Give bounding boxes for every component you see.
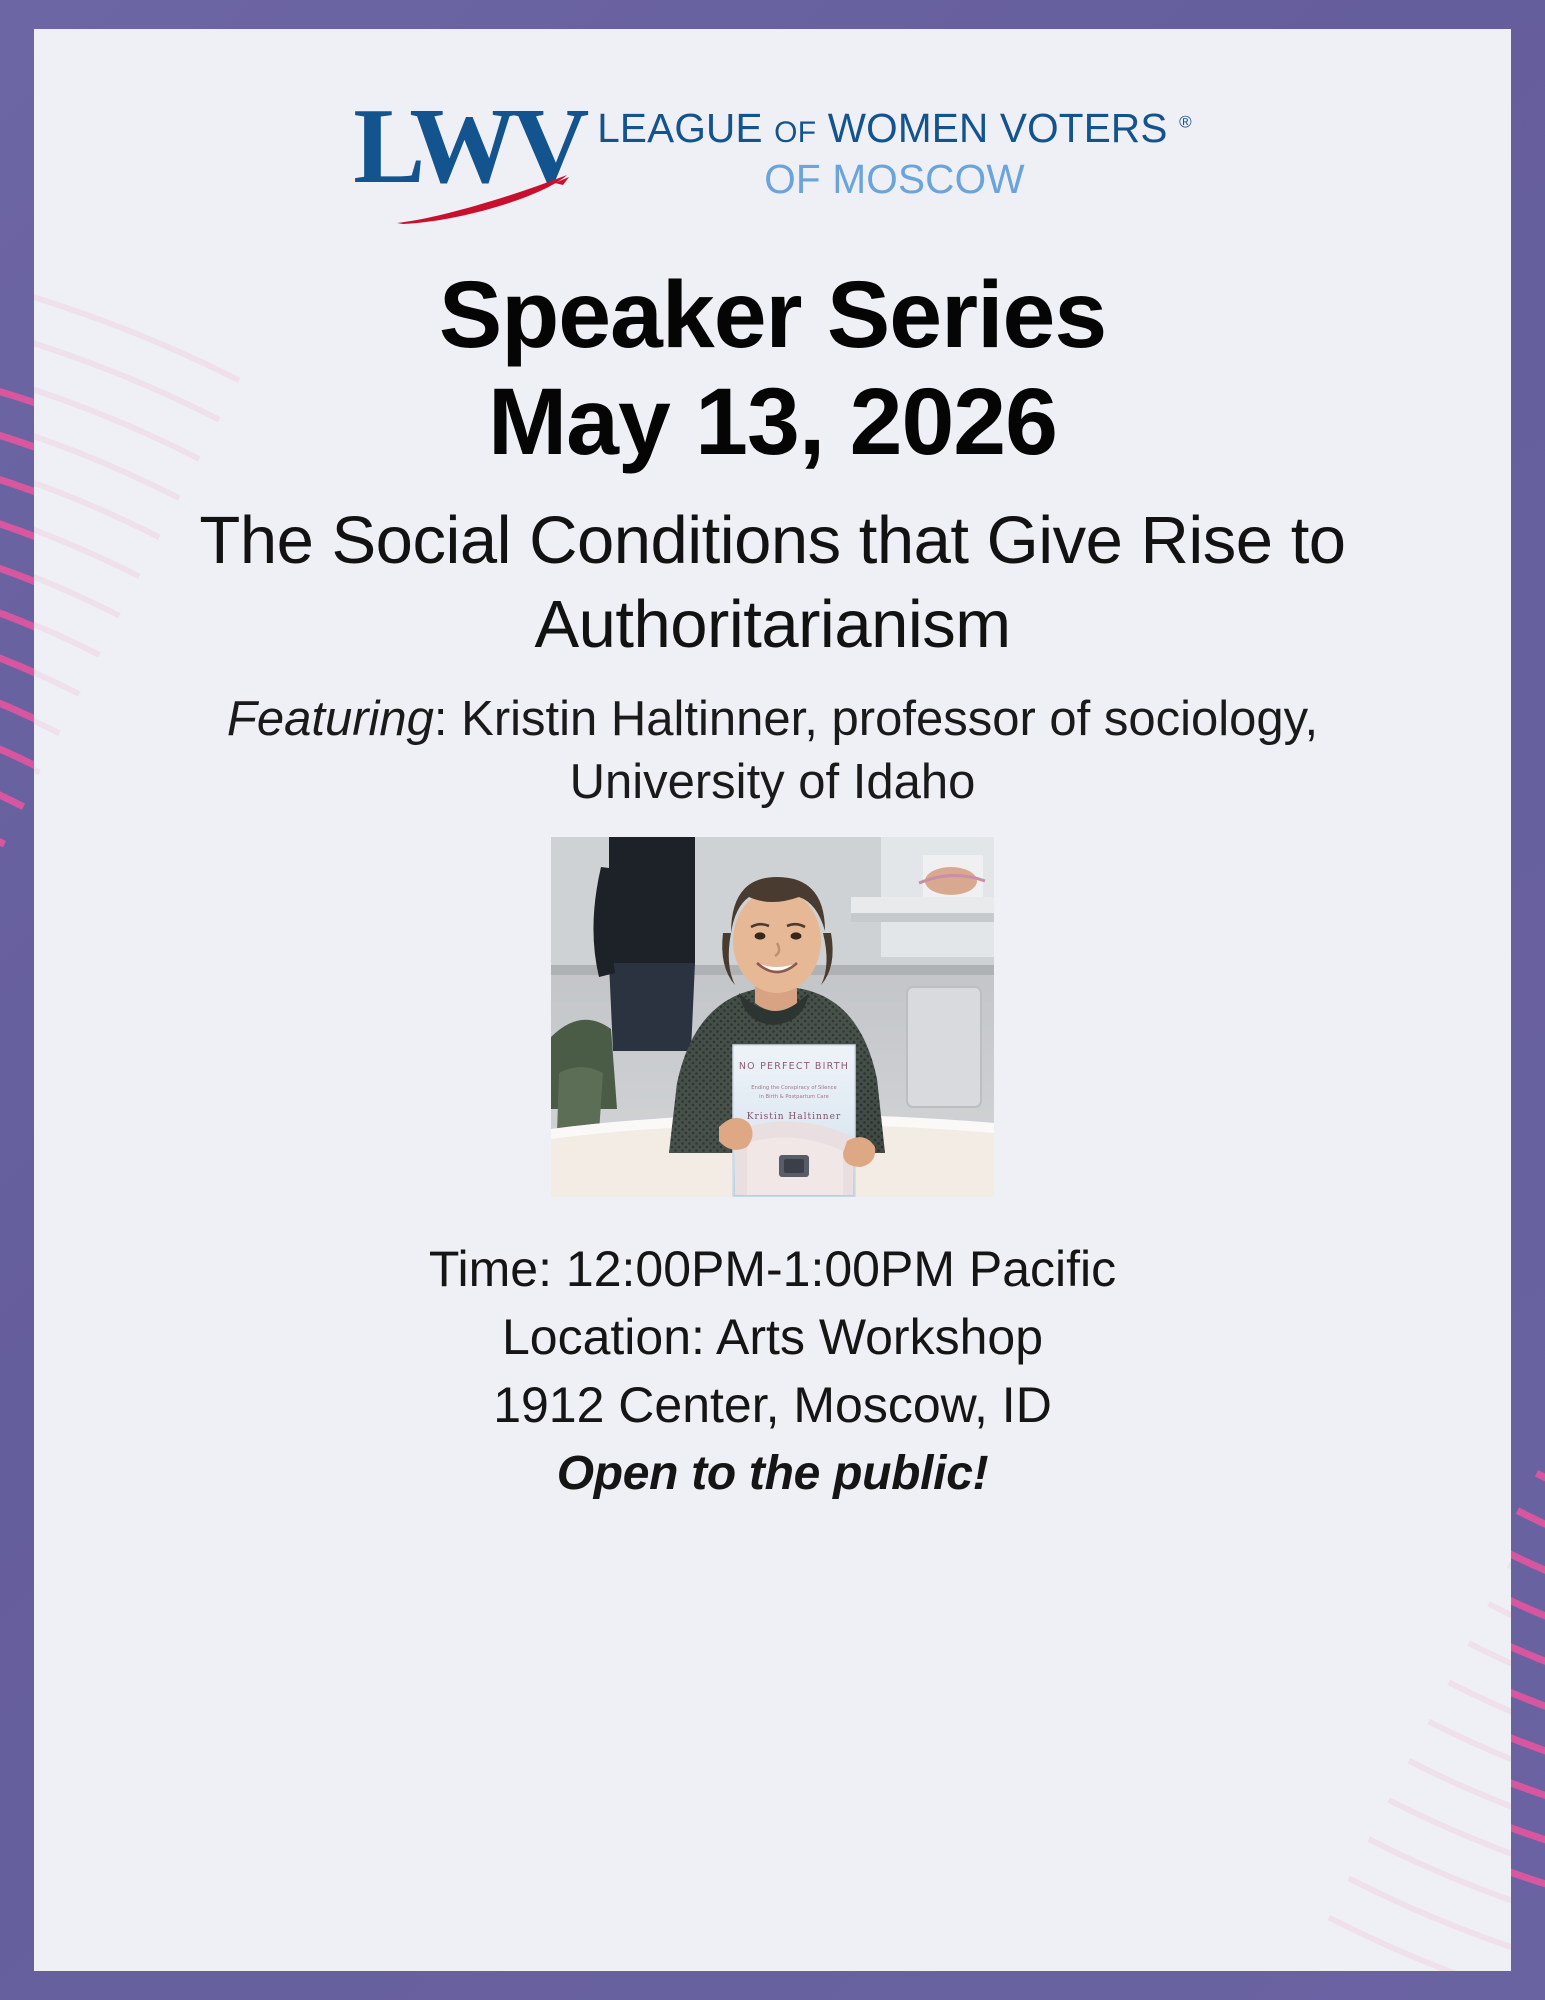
lwv-of: OF [774, 116, 816, 149]
flyer-page: LWV LEAGUE OF WOMEN VOTERS ® OF MOSCOW [34, 29, 1511, 1971]
lwv-swoosh-icon [395, 173, 585, 225]
svg-text:Ending the Conspiracy of Silen: Ending the Conspiracy of Silence [751, 1085, 836, 1091]
event-flyer: LWV LEAGUE OF WOMEN VOTERS ® OF MOSCOW [0, 0, 1545, 2000]
headline-line1: Speaker Series [439, 262, 1106, 368]
speaker-photo: NO PERFECT BIRTH Ending the Conspiracy o… [551, 837, 994, 1197]
lwv-wordmark-line2: OF MOSCOW [597, 156, 1192, 203]
open-to-public-note: Open to the public! [429, 1441, 1116, 1506]
speaker-credit: Featuring: Kristin Haltinner, professor … [123, 688, 1423, 815]
registered-trademark-icon: ® [1179, 113, 1192, 132]
featuring-label: Featuring [227, 692, 434, 746]
page-title: Speaker Series May 13, 2026 [439, 262, 1106, 477]
featuring-line2: University of Idaho [570, 755, 976, 809]
speaker-photo-image: NO PERFECT BIRTH Ending the Conspiracy o… [551, 837, 994, 1197]
featuring-line1: : Kristin Haltinner, professor of sociol… [434, 692, 1318, 746]
event-time: Time: 12:00PM-1:00PM Pacific [429, 1235, 1116, 1303]
svg-text:in Birth & Postpartum Care: in Birth & Postpartum Care [759, 1094, 829, 1100]
subtitle-line1: The Social Conditions that Give Rise [199, 503, 1272, 578]
event-details: Time: 12:00PM-1:00PM Pacific Location: A… [429, 1235, 1116, 1506]
event-address: 1912 Center, Moscow, ID [429, 1371, 1116, 1439]
lwv-wordmark-line1: LEAGUE OF WOMEN VOTERS ® [597, 105, 1192, 152]
lwv-women-voters: WOMEN VOTERS [828, 105, 1168, 151]
lwv-wordmark: LEAGUE OF WOMEN VOTERS ® OF MOSCOW [597, 93, 1192, 203]
svg-text:NO PERFECT BIRTH: NO PERFECT BIRTH [739, 1061, 849, 1072]
lwv-monogram: LWV [353, 93, 553, 228]
talk-subtitle: The Social Conditions that Give Rise to … [108, 499, 1438, 668]
svg-text:Kristin Haltinner: Kristin Haltinner [747, 1112, 841, 1122]
lwv-logo: LWV LEAGUE OF WOMEN VOTERS ® OF MOSCOW [34, 93, 1511, 228]
event-location: Location: Arts Workshop [429, 1303, 1116, 1371]
lwv-league: LEAGUE [597, 105, 763, 151]
headline-line2: May 13, 2026 [439, 369, 1106, 476]
